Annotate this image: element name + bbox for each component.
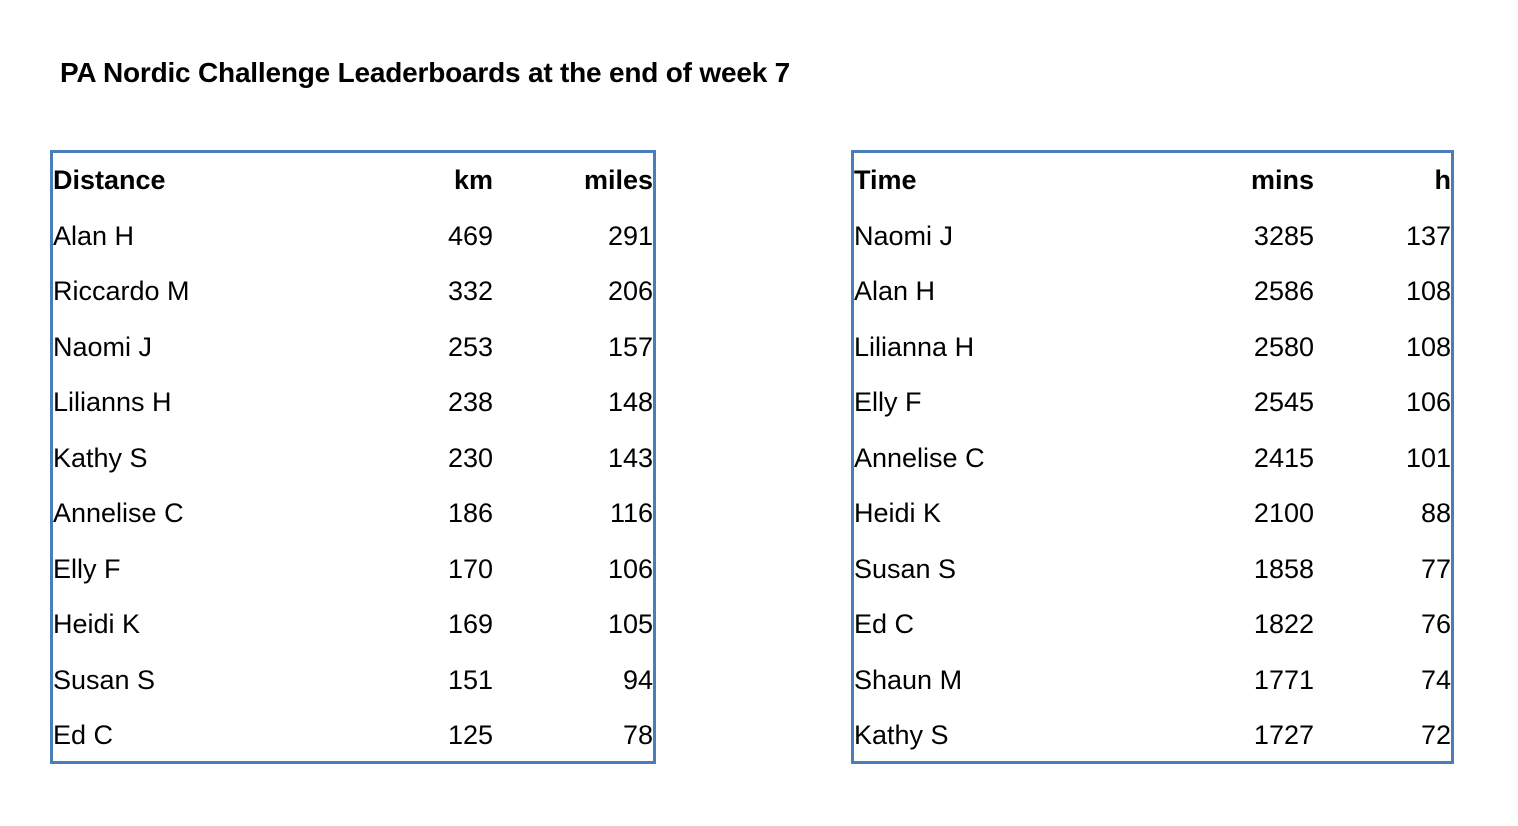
row-name: Heidi K bbox=[53, 597, 383, 653]
row-mins: 2415 bbox=[1174, 431, 1314, 487]
row-km: 186 bbox=[383, 486, 493, 542]
row-km: 125 bbox=[383, 708, 493, 764]
row-miles: 291 bbox=[493, 209, 660, 265]
row-name: Annelise C bbox=[53, 486, 383, 542]
table-row: Naomi J 3285 137 bbox=[854, 209, 1459, 265]
row-name: Elly F bbox=[854, 375, 1174, 431]
row-name: Annelise C bbox=[854, 431, 1174, 487]
row-name: Alan H bbox=[854, 264, 1174, 320]
row-mins: 1771 bbox=[1174, 653, 1314, 709]
row-mins: 1858 bbox=[1174, 542, 1314, 598]
column-header-h: h bbox=[1314, 153, 1459, 209]
row-name: Kathy S bbox=[53, 431, 383, 487]
row-name: Lilianna H bbox=[854, 320, 1174, 376]
column-header-miles: miles bbox=[493, 153, 660, 209]
row-km: 230 bbox=[383, 431, 493, 487]
row-hours: 74 bbox=[1314, 653, 1459, 709]
table-row: Susan S 151 94 bbox=[53, 653, 660, 709]
row-hours: 108 bbox=[1314, 320, 1459, 376]
table-row: Annelise C 2415 101 bbox=[854, 431, 1459, 487]
table-row: Heidi K 2100 88 bbox=[854, 486, 1459, 542]
row-name: Kathy S bbox=[854, 708, 1174, 764]
row-mins: 1822 bbox=[1174, 597, 1314, 653]
table-row: Lilianns H 238 148 bbox=[53, 375, 660, 431]
distance-leaderboard: Distance km miles Alan H 469 291 Riccard… bbox=[50, 150, 656, 764]
table-row: Alan H 469 291 bbox=[53, 209, 660, 265]
row-miles: 148 bbox=[493, 375, 660, 431]
row-km: 151 bbox=[383, 653, 493, 709]
distance-table-head: Distance km miles bbox=[53, 153, 660, 209]
row-name: Shaun M bbox=[854, 653, 1174, 709]
table-row: Alan H 2586 108 bbox=[854, 264, 1459, 320]
table-row: Susan S 1858 77 bbox=[854, 542, 1459, 598]
row-name: Heidi K bbox=[854, 486, 1174, 542]
distance-table: Distance km miles Alan H 469 291 Riccard… bbox=[53, 153, 660, 764]
table-row: Naomi J 253 157 bbox=[53, 320, 660, 376]
row-miles: 143 bbox=[493, 431, 660, 487]
row-mins: 2580 bbox=[1174, 320, 1314, 376]
time-table-body: Naomi J 3285 137 Alan H 2586 108 Liliann… bbox=[854, 209, 1459, 764]
row-name: Lilianns H bbox=[53, 375, 383, 431]
distance-table-body: Alan H 469 291 Riccardo M 332 206 Naomi … bbox=[53, 209, 660, 764]
row-mins: 1727 bbox=[1174, 708, 1314, 764]
row-miles: 106 bbox=[493, 542, 660, 598]
row-name: Naomi J bbox=[854, 209, 1174, 265]
row-name: Elly F bbox=[53, 542, 383, 598]
column-header-mins: mins bbox=[1174, 153, 1314, 209]
row-name: Susan S bbox=[854, 542, 1174, 598]
time-table-head: Time mins h bbox=[854, 153, 1459, 209]
row-hours: 72 bbox=[1314, 708, 1459, 764]
row-hours: 76 bbox=[1314, 597, 1459, 653]
row-km: 469 bbox=[383, 209, 493, 265]
row-hours: 101 bbox=[1314, 431, 1459, 487]
row-hours: 137 bbox=[1314, 209, 1459, 265]
row-name: Ed C bbox=[854, 597, 1174, 653]
table-header-row: Time mins h bbox=[854, 153, 1459, 209]
table-row: Lilianna H 2580 108 bbox=[854, 320, 1459, 376]
row-km: 169 bbox=[383, 597, 493, 653]
row-miles: 116 bbox=[493, 486, 660, 542]
row-hours: 88 bbox=[1314, 486, 1459, 542]
table-row: Ed C 1822 76 bbox=[854, 597, 1459, 653]
column-header-time: Time bbox=[854, 153, 1174, 209]
row-mins: 2586 bbox=[1174, 264, 1314, 320]
row-mins: 2545 bbox=[1174, 375, 1314, 431]
row-miles: 105 bbox=[493, 597, 660, 653]
row-name: Ed C bbox=[53, 708, 383, 764]
row-km: 238 bbox=[383, 375, 493, 431]
row-miles: 206 bbox=[493, 264, 660, 320]
table-row: Elly F 2545 106 bbox=[854, 375, 1459, 431]
row-miles: 78 bbox=[493, 708, 660, 764]
row-km: 332 bbox=[383, 264, 493, 320]
row-miles: 157 bbox=[493, 320, 660, 376]
column-header-distance: Distance bbox=[53, 153, 383, 209]
time-leaderboard: Time mins h Naomi J 3285 137 Alan H 2586… bbox=[851, 150, 1454, 764]
table-row: Kathy S 230 143 bbox=[53, 431, 660, 487]
column-header-km: km bbox=[383, 153, 493, 209]
table-header-row: Distance km miles bbox=[53, 153, 660, 209]
row-hours: 106 bbox=[1314, 375, 1459, 431]
row-name: Susan S bbox=[53, 653, 383, 709]
table-row: Heidi K 169 105 bbox=[53, 597, 660, 653]
page-title: PA Nordic Challenge Leaderboards at the … bbox=[60, 57, 790, 89]
row-hours: 77 bbox=[1314, 542, 1459, 598]
table-row: Kathy S 1727 72 bbox=[854, 708, 1459, 764]
time-table: Time mins h Naomi J 3285 137 Alan H 2586… bbox=[854, 153, 1459, 764]
table-row: Elly F 170 106 bbox=[53, 542, 660, 598]
table-row: Annelise C 186 116 bbox=[53, 486, 660, 542]
row-name: Riccardo M bbox=[53, 264, 383, 320]
row-name: Alan H bbox=[53, 209, 383, 265]
table-row: Shaun M 1771 74 bbox=[854, 653, 1459, 709]
row-miles: 94 bbox=[493, 653, 660, 709]
row-name: Naomi J bbox=[53, 320, 383, 376]
table-row: Ed C 125 78 bbox=[53, 708, 660, 764]
row-km: 170 bbox=[383, 542, 493, 598]
row-mins: 2100 bbox=[1174, 486, 1314, 542]
row-mins: 3285 bbox=[1174, 209, 1314, 265]
table-row: Riccardo M 332 206 bbox=[53, 264, 660, 320]
row-hours: 108 bbox=[1314, 264, 1459, 320]
row-km: 253 bbox=[383, 320, 493, 376]
